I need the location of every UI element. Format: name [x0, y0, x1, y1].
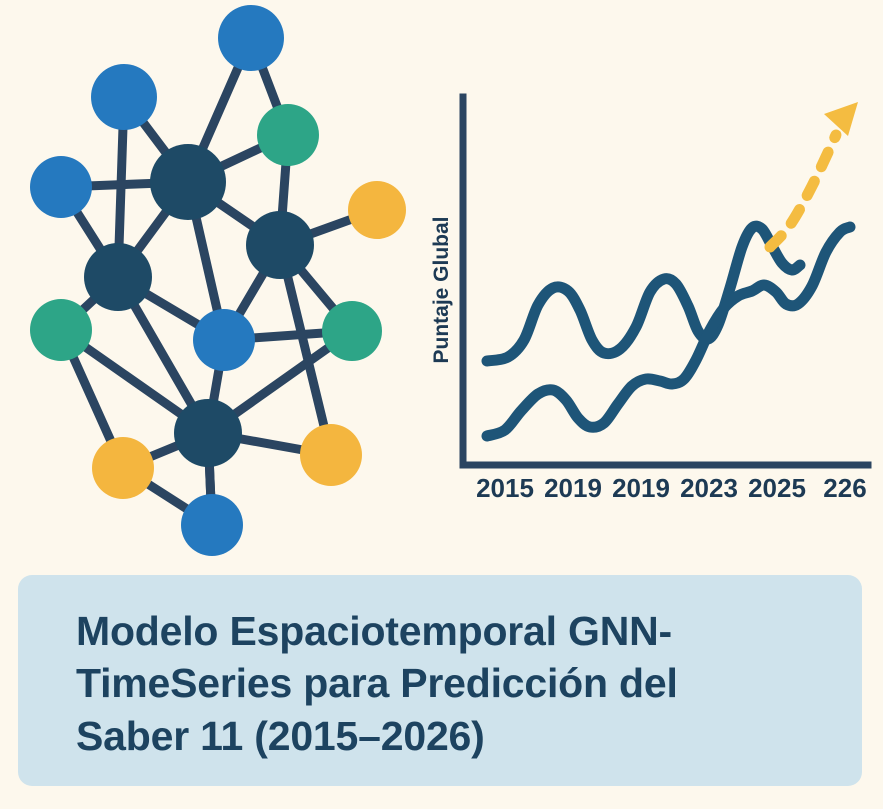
series-line: [487, 227, 850, 436]
chart-series-group: [487, 226, 850, 436]
x-tick-label: 2025: [748, 473, 806, 503]
x-tick-label-group: 20152019201920232025226: [476, 473, 867, 503]
line-chart-svg: Puntaje Glubal 20152019201920232025226: [425, 70, 883, 510]
gnn-graph-svg: [0, 0, 430, 565]
graph-node-amber[interactable]: [300, 424, 362, 486]
x-tick-label: 2019: [544, 473, 602, 503]
graph-node-dark[interactable]: [150, 144, 226, 220]
graph-node-dark[interactable]: [174, 399, 242, 467]
forecast-arrowhead-icon: [824, 102, 858, 136]
x-tick-label: 2015: [476, 473, 534, 503]
graph-node-blue[interactable]: [181, 494, 243, 556]
x-tick-label: 2023: [680, 473, 738, 503]
title-banner: Modelo Espaciotemporal GNN- TimeSeries p…: [18, 575, 862, 786]
graph-node-teal[interactable]: [322, 301, 382, 361]
graph-node-blue[interactable]: [91, 64, 157, 130]
forecast-dashed-line: [770, 135, 836, 247]
graph-node-group: [30, 5, 406, 556]
y-axis-label: Puntaje Glubal: [430, 216, 453, 363]
graph-node-blue[interactable]: [193, 309, 255, 371]
graph-node-teal[interactable]: [30, 299, 92, 361]
x-tick-label: 2019: [612, 473, 670, 503]
line-chart-panel: Puntaje Glubal 20152019201920232025226: [425, 70, 883, 510]
page-title: Modelo Espaciotemporal GNN- TimeSeries p…: [76, 605, 822, 762]
gnn-graph-panel: [0, 0, 430, 565]
x-tick-label: 226: [823, 473, 866, 503]
graph-node-dark[interactable]: [84, 243, 152, 311]
graph-node-amber[interactable]: [92, 437, 154, 499]
graph-node-teal[interactable]: [257, 104, 319, 166]
graph-node-dark[interactable]: [246, 211, 314, 279]
poster-root: Puntaje Glubal 20152019201920232025226 M…: [0, 0, 883, 809]
graph-node-blue[interactable]: [30, 156, 92, 218]
graph-node-amber[interactable]: [348, 181, 406, 239]
graph-node-blue[interactable]: [218, 5, 284, 71]
